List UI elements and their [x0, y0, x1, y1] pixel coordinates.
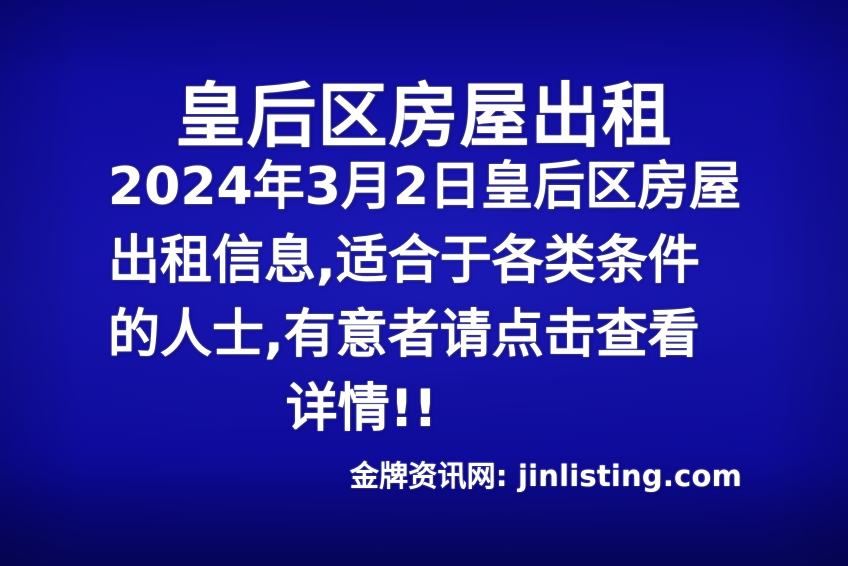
body-line-4: 详情!!	[108, 372, 760, 446]
poster-body: 2024年3月2日皇后区房屋 出租信息,适合于各类条件 的人士,有意者请点击查看…	[108, 150, 760, 446]
poster-title: 皇后区房屋出租	[0, 75, 848, 157]
body-line-2: 出租信息,适合于各类条件	[108, 224, 760, 298]
body-line-1: 2024年3月2日皇后区房屋	[108, 150, 760, 224]
source-attribution: 金牌资讯网: jinlisting.com	[350, 458, 742, 494]
poster-content: 皇后区房屋出租 2024年3月2日皇后区房屋 出租信息,适合于各类条件 的人士,…	[0, 0, 848, 566]
rental-ad-poster: 皇后区房屋出租 2024年3月2日皇后区房屋 出租信息,适合于各类条件 的人士,…	[0, 0, 848, 566]
body-line-3: 的人士,有意者请点击查看	[108, 298, 760, 372]
